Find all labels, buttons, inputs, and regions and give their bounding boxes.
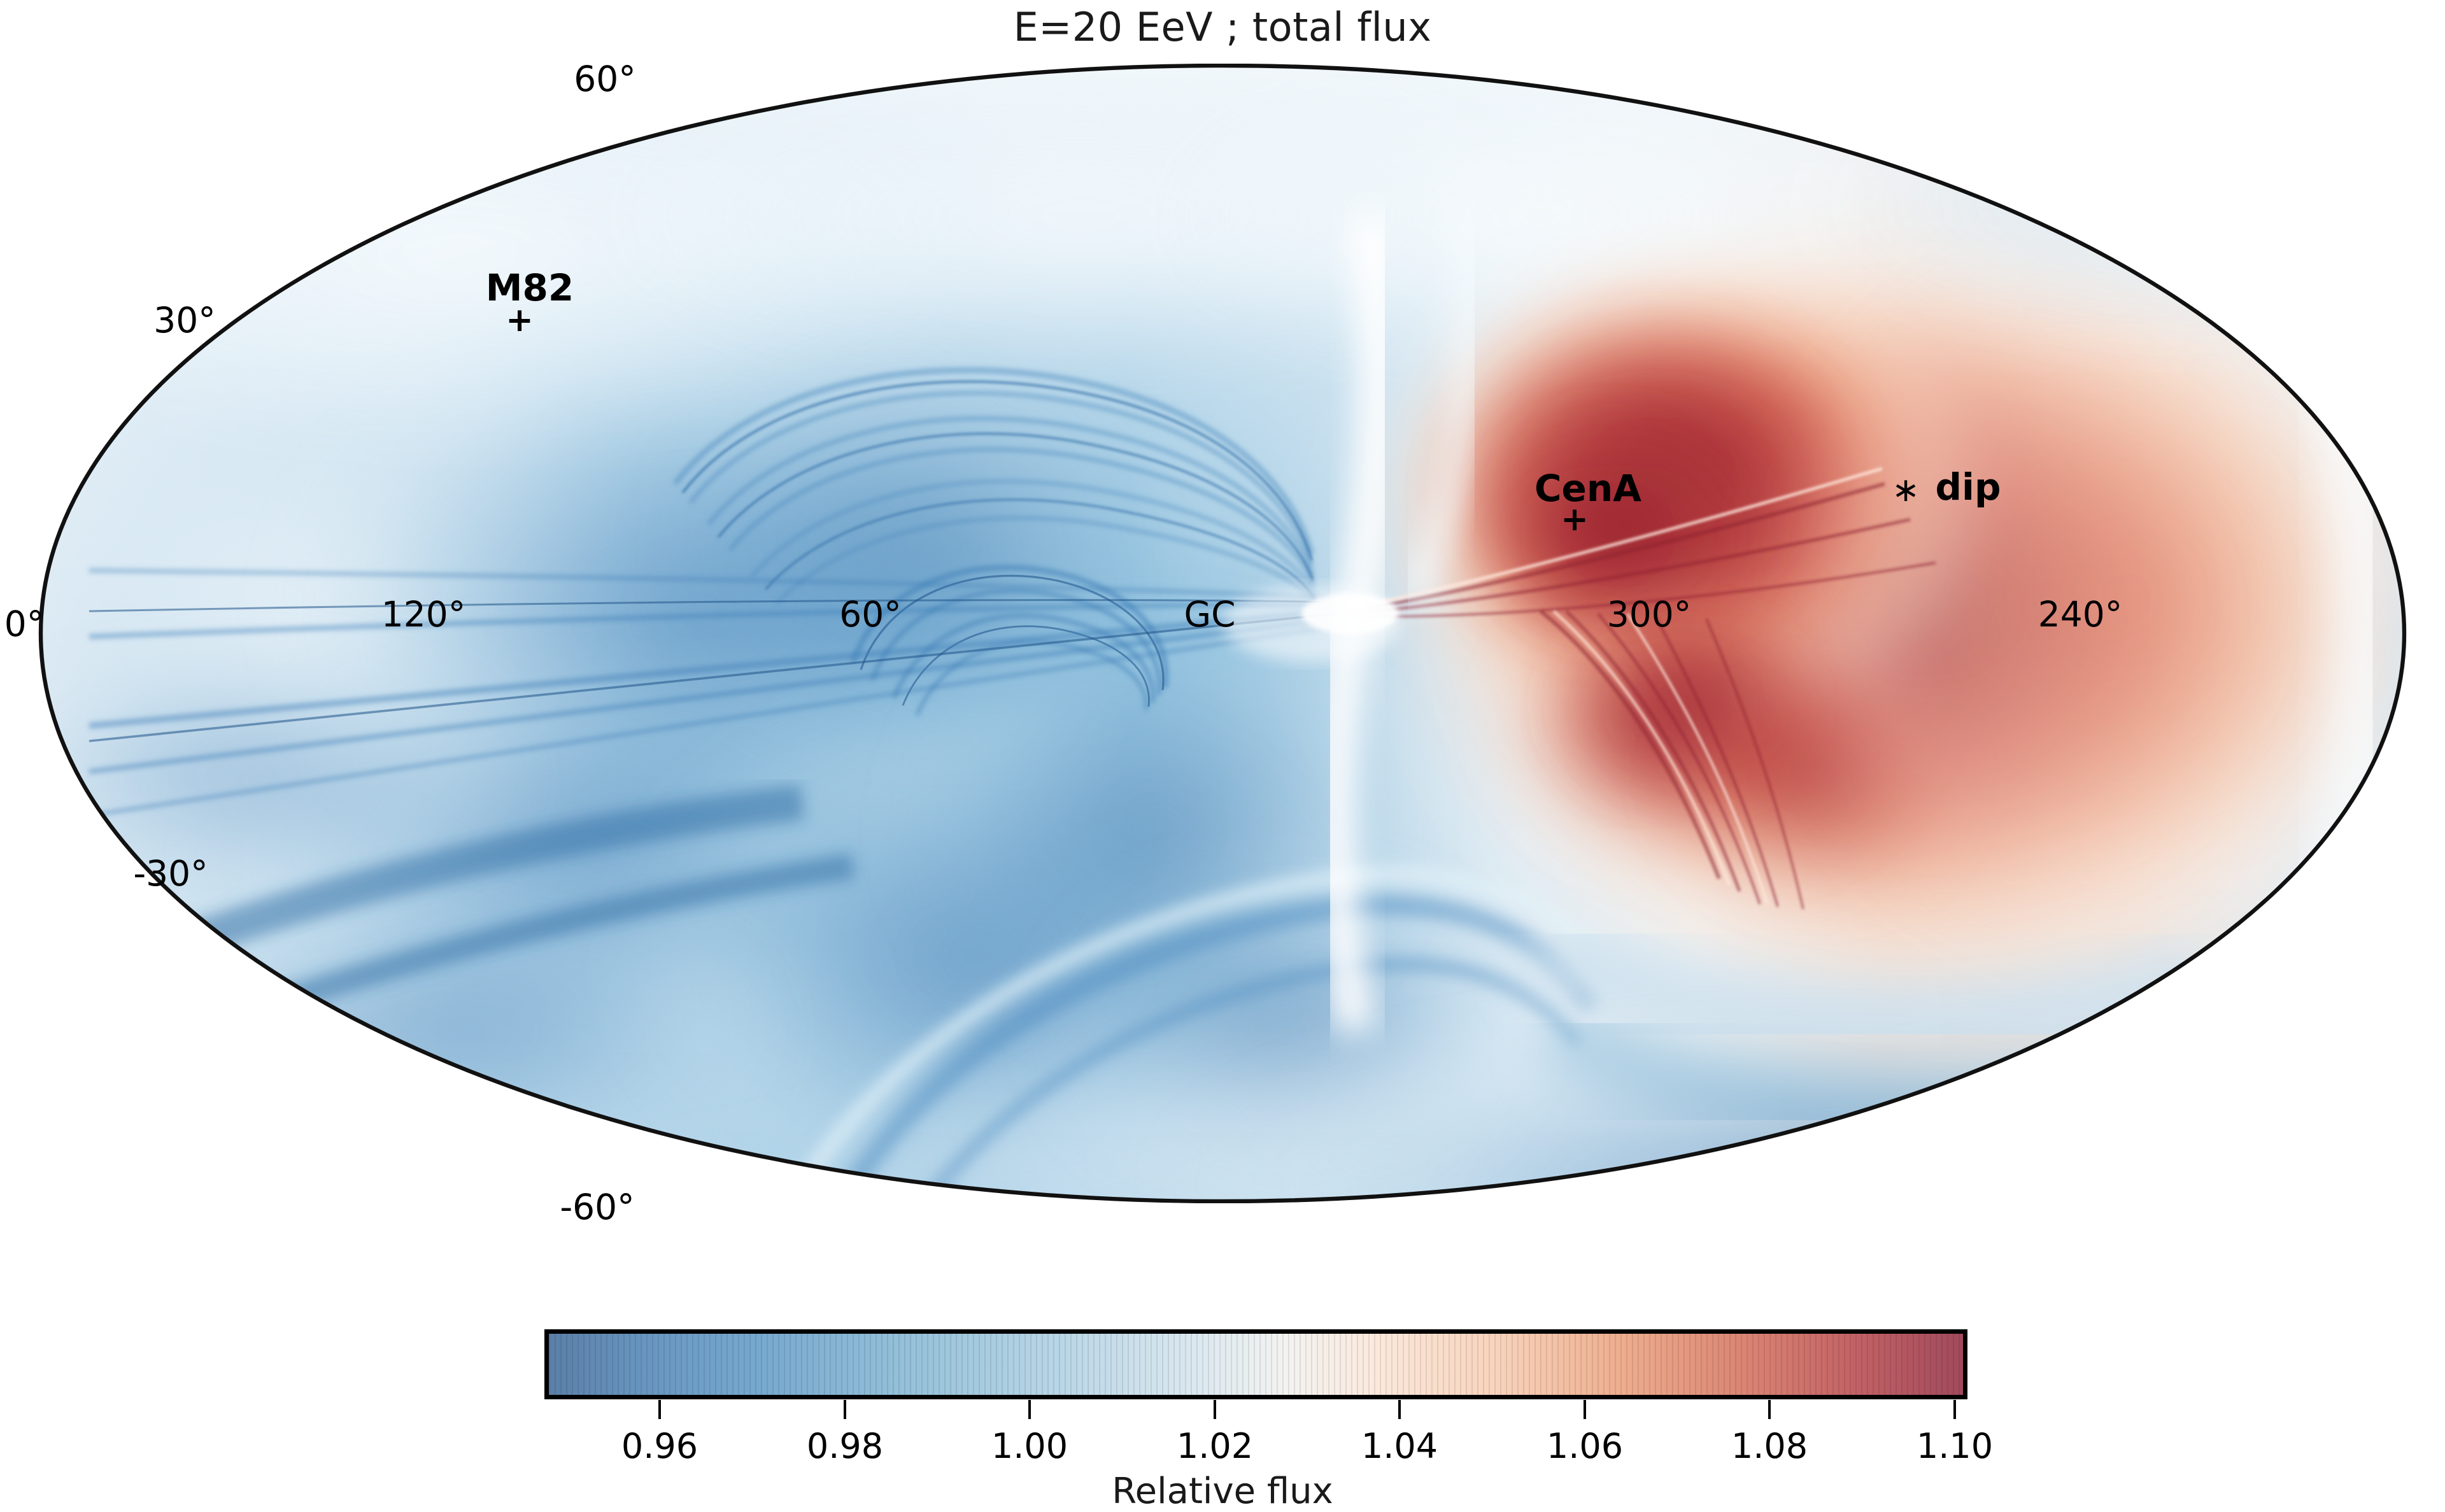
asterisk-marker-icon-dip: ∗	[1892, 474, 1920, 507]
plus-marker-icon-m82: +	[506, 304, 534, 337]
colorbar-tick-7	[1953, 1400, 1956, 1419]
page-title: E=20 EeV ; total flux	[0, 4, 2445, 50]
lon-label-300: 300°	[1607, 594, 1691, 635]
colorbar-tick-label-2: 1.00	[991, 1426, 1068, 1466]
lon-label-240: 240°	[2038, 594, 2122, 635]
colorbar-tick-label-6: 1.08	[1731, 1426, 1808, 1466]
source-label-dip: dip	[1936, 469, 2001, 505]
lat-label-neg60: -60°	[560, 1187, 634, 1227]
source-name-dip: dip	[1936, 465, 2001, 509]
colorbar-box	[544, 1329, 1967, 1399]
colorbar-tick-3	[1214, 1400, 1216, 1419]
colorbar-tick-1	[844, 1400, 846, 1419]
colorbar-tick-0	[658, 1400, 661, 1419]
lon-label-gc: GC	[1184, 594, 1235, 635]
figure-canvas: E=20 EeV ; total flux	[0, 0, 2445, 1497]
plus-marker-icon-cena: +	[1561, 503, 1589, 536]
colorbar-tick-label-3: 1.02	[1177, 1426, 1253, 1466]
lat-label-30: 30°	[153, 300, 216, 341]
colorbar-tick-5	[1584, 1400, 1586, 1419]
colorbar-tick-6	[1768, 1400, 1771, 1419]
lat-label-0: 0°	[4, 604, 45, 644]
colorbar	[544, 1329, 1967, 1399]
lon-label-60: 60°	[839, 594, 902, 635]
colorbar-tick-label-5: 1.06	[1547, 1426, 1623, 1466]
colorbar-tick-2	[1028, 1400, 1031, 1419]
lat-label-60: 60°	[574, 59, 636, 99]
colorbar-tick-label-1: 0.98	[807, 1426, 883, 1466]
lat-label-neg30: -30°	[133, 853, 208, 894]
colorbar-discrete-stripes	[549, 1334, 1963, 1395]
colorbar-tick-4	[1398, 1400, 1401, 1419]
lon-label-120: 120°	[381, 594, 465, 635]
colorbar-tick-label-7: 1.10	[1917, 1426, 1993, 1466]
colorbar-tick-label-0: 0.96	[621, 1426, 698, 1466]
colorbar-axis-label: Relative flux	[0, 1471, 2445, 1512]
colorbar-tick-label-4: 1.04	[1361, 1426, 1438, 1466]
